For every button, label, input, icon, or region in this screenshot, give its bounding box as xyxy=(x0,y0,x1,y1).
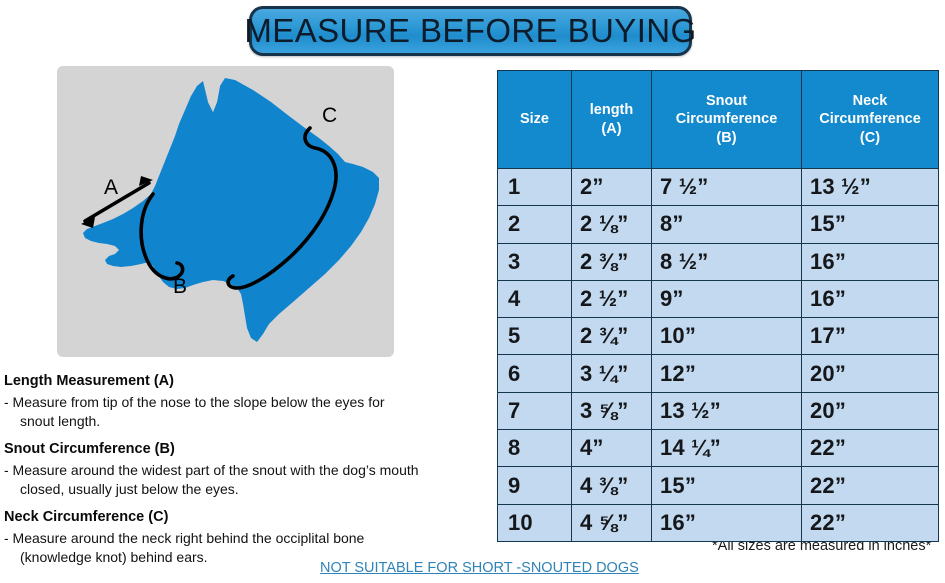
column-header-length-line2: (A) xyxy=(574,120,649,138)
instruction-block-neck: Neck Circumference (C) - Measure around … xyxy=(4,508,492,567)
cell-snout: 13 ½” xyxy=(652,392,802,429)
dog-head-svg: A B C xyxy=(57,66,394,357)
cell-length: 2 ¾” xyxy=(572,318,652,355)
column-header-snout: Snout Circumference (B) xyxy=(652,71,802,169)
instruction-snout-line2: closed, usually just below the eyes. xyxy=(6,480,492,499)
size-chart-body: 12”7 ½”13 ½”22 ⅛”8”15”32 ⅜”8 ½”16”42 ½”9… xyxy=(498,169,939,542)
cell-length: 3 ¼” xyxy=(572,355,652,392)
cell-size: 2 xyxy=(498,206,572,243)
cell-snout: 14 ¼” xyxy=(652,430,802,467)
cell-length: 4” xyxy=(572,430,652,467)
cell-neck: 20” xyxy=(802,355,939,392)
cell-length: 4 ⅜” xyxy=(572,467,652,504)
cell-length: 3 ⅝” xyxy=(572,392,652,429)
column-header-neck-line3: (C) xyxy=(804,129,936,147)
cell-snout: 15” xyxy=(652,467,802,504)
cell-snout: 8” xyxy=(652,206,802,243)
table-header-row: Size length (A) Snout Circumference (B) … xyxy=(498,71,939,169)
instruction-heading-length: Length Measurement (A) xyxy=(4,372,492,392)
cell-size: 7 xyxy=(498,392,572,429)
column-header-neck-line2: Circumference xyxy=(804,110,936,128)
table-row: 42 ½”9”16” xyxy=(498,280,939,317)
size-chart-head: Size length (A) Snout Circumference (B) … xyxy=(498,71,939,169)
table-row: 52 ¾”10”17” xyxy=(498,318,939,355)
column-header-neck-line1: Neck xyxy=(804,92,936,110)
instruction-snout-line1: - Measure around the widest part of the … xyxy=(4,462,419,478)
instruction-block-snout: Snout Circumference (B) - Measure around… xyxy=(4,440,492,499)
cell-snout: 16” xyxy=(652,504,802,541)
column-header-snout-line2: Circumference xyxy=(654,110,799,128)
table-row: 63 ¼”12”20” xyxy=(498,355,939,392)
column-header-size: Size xyxy=(498,71,572,169)
size-chart-table: Size length (A) Snout Circumference (B) … xyxy=(497,70,939,542)
cell-size: 8 xyxy=(498,430,572,467)
cell-length: 2” xyxy=(572,169,652,206)
cell-neck: 13 ½” xyxy=(802,169,939,206)
cell-snout: 9” xyxy=(652,280,802,317)
instruction-heading-snout: Snout Circumference (B) xyxy=(4,440,492,460)
cell-neck: 15” xyxy=(802,206,939,243)
table-row: 104 ⅝”16”22” xyxy=(498,504,939,541)
cell-neck: 22” xyxy=(802,467,939,504)
cell-snout: 8 ½” xyxy=(652,243,802,280)
dog-measurement-figure: A B C xyxy=(57,66,394,357)
table-row: 32 ⅜”8 ½”16” xyxy=(498,243,939,280)
cell-neck: 22” xyxy=(802,504,939,541)
column-header-snout-line1: Snout xyxy=(654,92,799,110)
column-header-length: length (A) xyxy=(572,71,652,169)
cell-neck: 22” xyxy=(802,430,939,467)
cell-neck: 20” xyxy=(802,392,939,429)
table-row: 73 ⅝”13 ½”20” xyxy=(498,392,939,429)
cell-size: 3 xyxy=(498,243,572,280)
cell-snout: 7 ½” xyxy=(652,169,802,206)
cell-neck: 16” xyxy=(802,243,939,280)
instruction-block-length: Length Measurement (A) - Measure from ti… xyxy=(4,372,492,431)
table-row: 94 ⅜”15”22” xyxy=(498,467,939,504)
cell-snout: 10” xyxy=(652,318,802,355)
cell-length: 2 ½” xyxy=(572,280,652,317)
cell-size: 1 xyxy=(498,169,572,206)
cell-neck: 17” xyxy=(802,318,939,355)
cell-size: 4 xyxy=(498,280,572,317)
cell-length: 4 ⅝” xyxy=(572,504,652,541)
column-header-neck: Neck Circumference (C) xyxy=(802,71,939,169)
not-suitable-warning-link[interactable]: NOT SUITABLE FOR SHORT -SNOUTED DOGS xyxy=(320,560,639,576)
page-title: MEASURE BEFORE BUYING xyxy=(244,12,696,50)
instruction-length-line2: snout length. xyxy=(6,412,492,431)
cell-size: 9 xyxy=(498,467,572,504)
label-c: C xyxy=(322,104,337,127)
table-row: 22 ⅛”8”15” xyxy=(498,206,939,243)
table-row: 84”14 ¼”22” xyxy=(498,430,939,467)
cell-size: 5 xyxy=(498,318,572,355)
page-title-banner: MEASURE BEFORE BUYING xyxy=(249,6,692,56)
cell-size: 6 xyxy=(498,355,572,392)
instruction-text-snout: - Measure around the widest part of the … xyxy=(4,461,492,500)
column-header-length-line1: length xyxy=(574,101,649,119)
cell-length: 2 ⅜” xyxy=(572,243,652,280)
instruction-length-line1: - Measure from tip of the nose to the sl… xyxy=(4,394,385,410)
column-header-snout-line3: (B) xyxy=(654,129,799,147)
label-b: B xyxy=(173,275,187,298)
measurement-instructions: Length Measurement (A) - Measure from ti… xyxy=(4,372,492,577)
cell-size: 10 xyxy=(498,504,572,541)
instruction-neck-line1: - Measure around the neck right behind t… xyxy=(4,530,364,546)
instruction-text-length: - Measure from tip of the nose to the sl… xyxy=(4,393,492,432)
cell-neck: 16” xyxy=(802,280,939,317)
cell-snout: 12” xyxy=(652,355,802,392)
instruction-heading-neck: Neck Circumference (C) xyxy=(4,508,492,528)
table-row: 12”7 ½”13 ½” xyxy=(498,169,939,206)
label-a: A xyxy=(104,176,118,199)
column-header-size-line1: Size xyxy=(500,110,569,128)
cell-length: 2 ⅛” xyxy=(572,206,652,243)
